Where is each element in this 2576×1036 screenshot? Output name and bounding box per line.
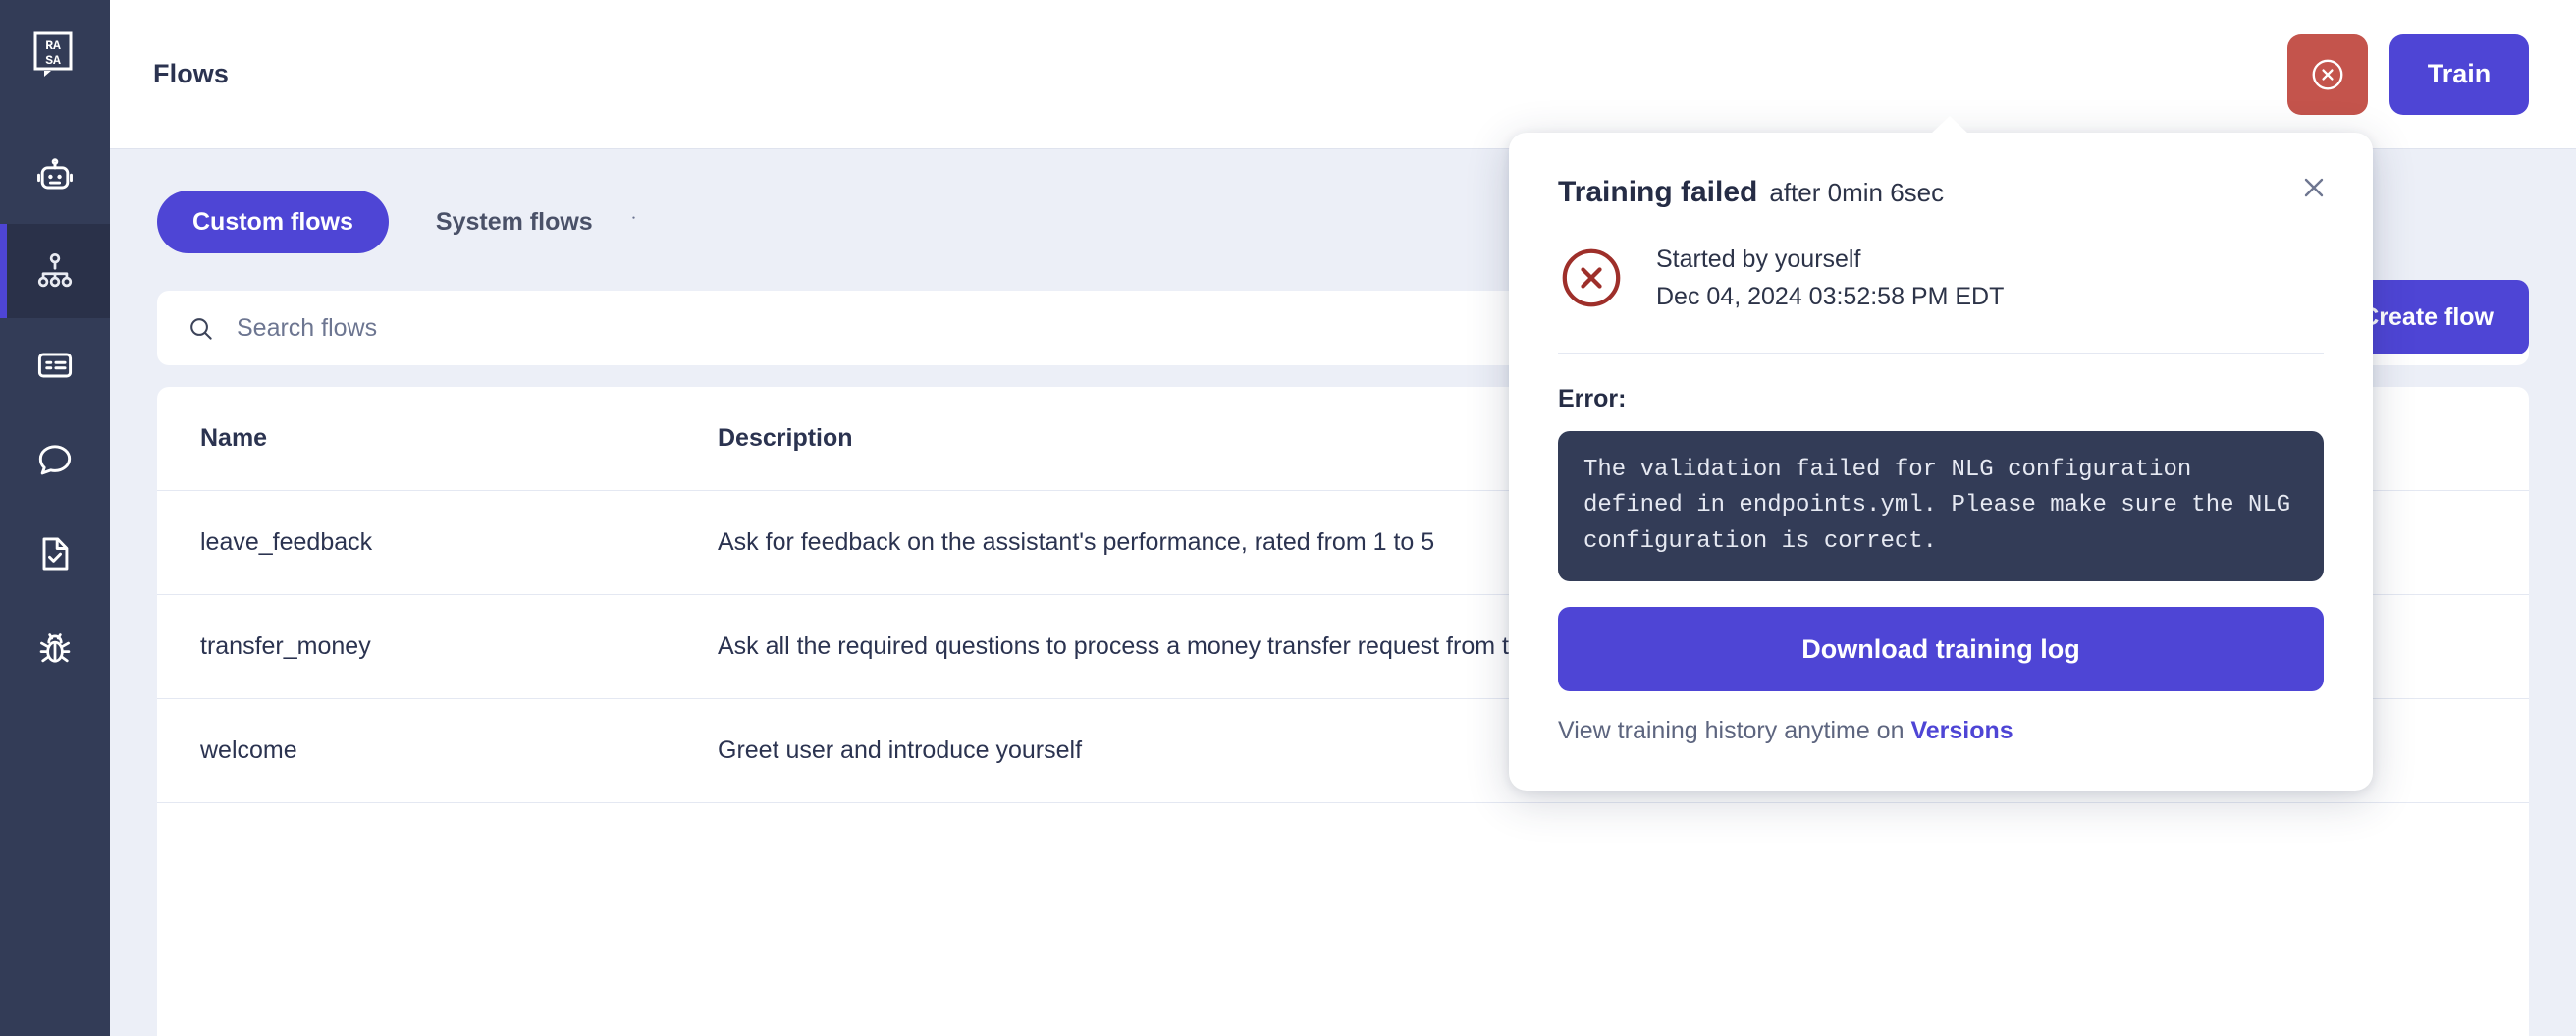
topbar-actions: Train [2287,34,2529,115]
sidebar-item-dialogues[interactable] [0,412,110,507]
popover-status-lines: Started by yourself Dec 04, 2024 03:52:5… [1656,245,2004,311]
sidebar-item-flows[interactable] [0,224,110,318]
popover-duration: after 0min 6sec [1769,178,1944,208]
cell-flow-name: leave_feedback [200,528,718,557]
sidebar-item-responses[interactable] [0,318,110,412]
svg-text:SA: SA [45,53,61,68]
popover-close-button[interactable] [2292,166,2335,209]
rasa-logo-icon: RA SA [32,31,78,79]
tab-system-flows[interactable]: System flows [401,191,628,253]
popover-status: Started by yourself Dec 04, 2024 03:52:5… [1558,245,2324,353]
close-icon [2298,172,2330,203]
popover-title-row: Training failed after 0min 6sec [1558,176,2324,209]
training-failed-popover: Training failed after 0min 6sec Started … [1509,133,2373,791]
sidebar-item-assistant[interactable] [0,130,110,224]
tab-system-flows-group: System flows [401,191,647,253]
popover-footer-text: View training history anytime on [1558,717,1910,744]
train-button[interactable]: Train [2389,34,2529,115]
sidebar-item-debug[interactable] [0,601,110,695]
popover-footer: View training history anytime on Version… [1558,717,2324,745]
started-by-text: Started by yourself [1656,245,2004,274]
popover-divider [1558,353,2324,354]
circle-x-error-icon [1558,245,1625,311]
card-list-icon [33,344,77,387]
error-message-box: The validation failed for NLG configurat… [1558,431,2324,581]
topbar: Flows Train [110,0,2576,149]
file-check-icon [33,532,77,575]
circle-x-icon [2309,56,2346,93]
versions-link[interactable]: Versions [1910,717,2012,744]
sidebar: RA SA [0,0,110,1036]
flows-tree-icon [33,249,77,293]
rasa-logo[interactable]: RA SA [0,0,110,110]
timestamp-text: Dec 04, 2024 03:52:58 PM EDT [1656,283,2004,311]
sidebar-item-versions[interactable] [0,507,110,601]
bug-icon [33,627,77,670]
robot-icon [33,155,77,198]
tab-custom-flows[interactable]: Custom flows [157,191,389,253]
cell-flow-name: transfer_money [200,632,718,661]
error-label: Error: [1558,385,2324,413]
popover-title: Training failed [1558,176,1757,209]
stop-training-button[interactable] [2287,34,2368,115]
cell-flow-name: welcome [200,736,718,765]
column-header-name: Name [200,424,718,453]
download-training-log-button[interactable]: Download training log [1558,607,2324,691]
info-icon[interactable] [620,209,647,236]
svg-text:RA: RA [45,38,61,53]
search-icon [187,314,215,343]
chat-bubble-icon [33,438,77,481]
page-title: Flows [153,59,229,89]
table-empty-area [157,803,2529,1036]
app-root: RA SA [0,0,2576,1036]
